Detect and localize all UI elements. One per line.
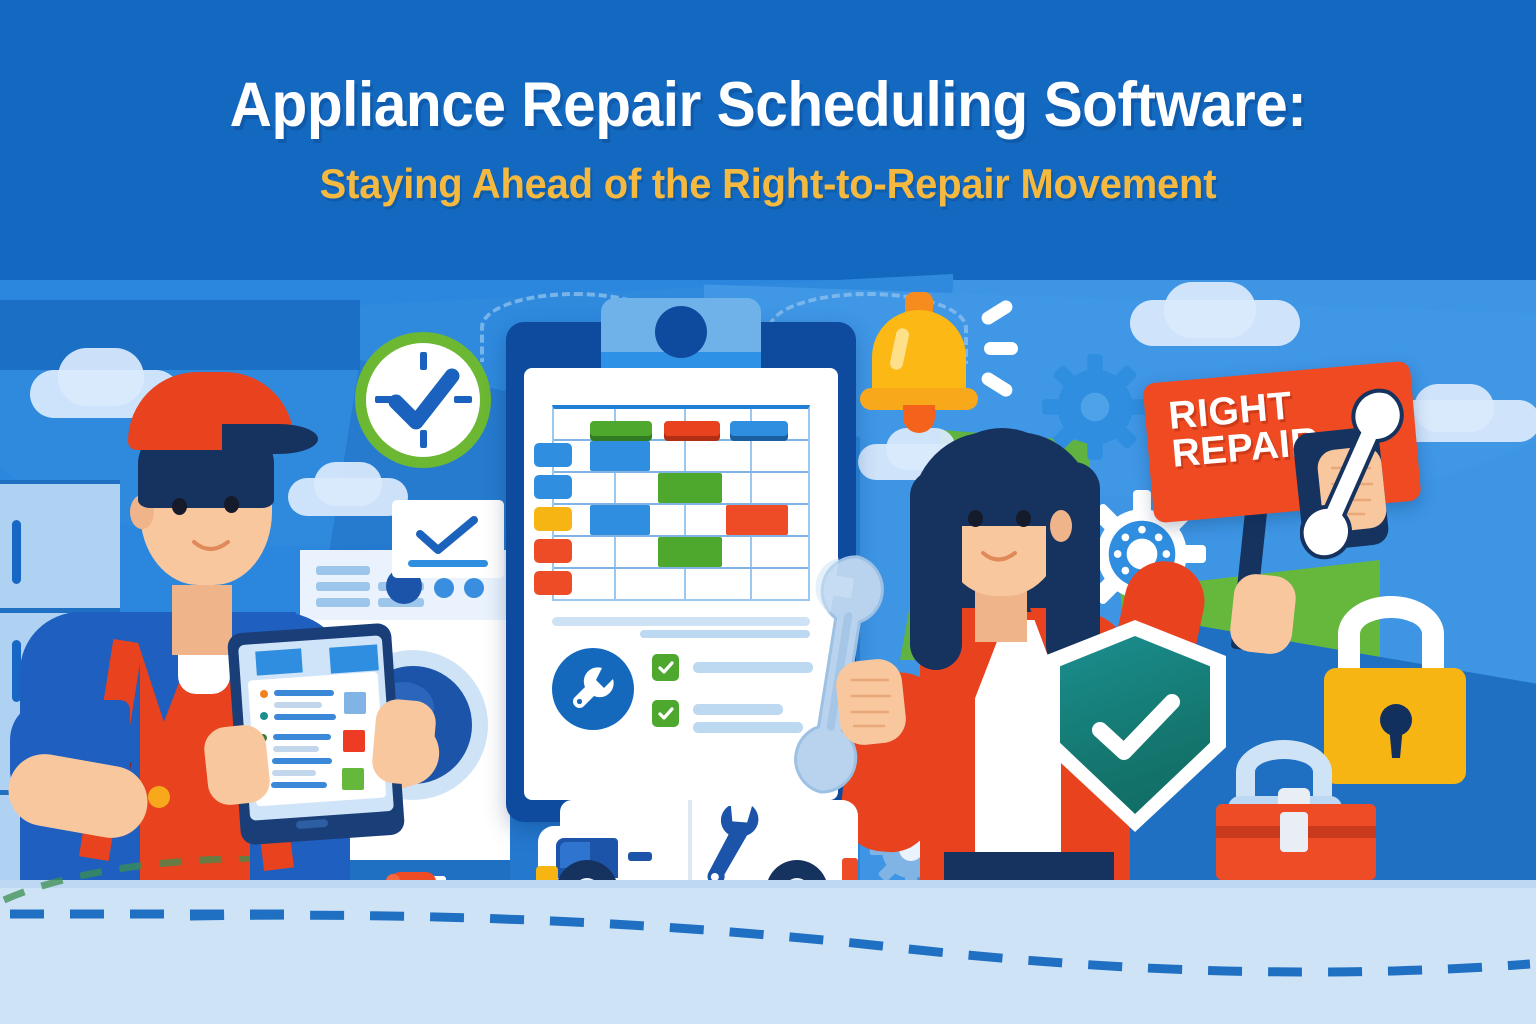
cloud-icon-3b xyxy=(1164,282,1256,338)
tablet-list-line xyxy=(271,782,327,788)
washer-knob-small xyxy=(464,578,484,598)
background-band xyxy=(0,300,360,370)
grid-line-h5 xyxy=(554,567,808,569)
check-icon-clock xyxy=(382,364,466,438)
tablet-list-line xyxy=(273,734,331,740)
clipboard-underline xyxy=(552,617,810,626)
cloud-icon-1b xyxy=(58,348,144,406)
schedule-event-block xyxy=(590,505,650,535)
schedule-column-header xyxy=(590,421,652,436)
schedule-row-label xyxy=(534,539,572,563)
van-door-handle xyxy=(628,852,652,861)
dashed-route-path-left xyxy=(0,856,320,916)
technician-hand-right xyxy=(370,698,437,787)
tablet-status-tile-blue xyxy=(344,692,366,714)
technician-eye-right xyxy=(224,496,239,513)
keyhole-icon xyxy=(1375,700,1417,762)
woman-eyebrow-right xyxy=(1010,492,1036,499)
washer-knob-medium xyxy=(434,578,454,598)
tablet-list-line xyxy=(272,770,316,776)
toolbox-latch xyxy=(1280,812,1308,852)
technician-eyebrow-right xyxy=(218,478,246,485)
check-icon-card xyxy=(412,512,484,556)
tablet-status-tile-green xyxy=(342,768,364,790)
woman-eye-left xyxy=(968,510,983,527)
tablet-list-line xyxy=(272,758,332,764)
schedule-column-header xyxy=(730,421,788,436)
hero-banner: Appliance Repair Scheduling Software: St… xyxy=(0,0,1536,1024)
schedule-row-label xyxy=(534,571,572,595)
wrench-icon-sign xyxy=(1300,386,1430,566)
schedule-row-label xyxy=(534,475,572,499)
checklist-text-bar xyxy=(693,704,783,715)
bell-ray-2 xyxy=(984,342,1018,355)
page-subtitle: Staying Ahead of the Right-to-Repair Mov… xyxy=(38,160,1497,208)
cloud-icon-2b xyxy=(314,462,382,506)
refrigerator-handle-top xyxy=(12,520,21,584)
washer-panel-bar-1 xyxy=(316,566,370,575)
page-title: Appliance Repair Scheduling Software: xyxy=(54,72,1482,138)
woman-eyebrow-left xyxy=(962,492,988,499)
tablet-list-line xyxy=(274,714,336,720)
tablet-list-line xyxy=(274,702,322,708)
tablet-status-tile-red xyxy=(343,730,365,752)
clipboard-top-bar xyxy=(640,630,810,638)
schedule-row-label xyxy=(534,507,572,531)
tablet-list-line xyxy=(274,690,334,696)
woman-smile xyxy=(978,548,1022,570)
washer-panel-bar-2 xyxy=(316,582,370,591)
tablet-header-tile-left xyxy=(255,648,303,675)
schedule-event-block xyxy=(658,473,722,503)
technician-eye-left xyxy=(172,498,187,515)
check-icon-shield xyxy=(1086,688,1186,772)
schedule-event-block xyxy=(590,441,650,471)
schedule-row-label xyxy=(534,443,572,467)
checkmark-card-underline xyxy=(408,560,488,567)
refrigerator-top-edge xyxy=(0,480,120,484)
checklist-text-bar xyxy=(693,722,803,733)
woman-eye-right xyxy=(1016,510,1031,527)
tablet-header-tile-right xyxy=(329,644,379,673)
check-icon-2 xyxy=(657,705,675,723)
tablet-list-dot xyxy=(260,690,268,698)
check-icon-1 xyxy=(657,659,675,677)
tablet-list-dot xyxy=(260,712,268,720)
technician-smile xyxy=(188,536,236,560)
woman-ear xyxy=(1050,510,1072,542)
technician-eyebrow-left xyxy=(166,480,194,487)
tablet-list-line xyxy=(273,746,319,752)
technician-neck xyxy=(172,585,232,655)
schedule-grid xyxy=(552,405,810,601)
schedule-event-block xyxy=(726,505,788,535)
wrench-icon xyxy=(566,662,620,716)
technician-cap-brim xyxy=(222,424,318,454)
title-block: Appliance Repair Scheduling Software: St… xyxy=(0,72,1536,208)
padlock-icon-yellow-shackle xyxy=(1338,596,1444,672)
schedule-event-block xyxy=(658,537,722,567)
clipboard-clip-hole xyxy=(655,306,707,358)
schedule-column-header xyxy=(664,421,720,436)
technician-button xyxy=(148,786,170,808)
woman-hand-fingers xyxy=(840,664,904,742)
woman-hand-right xyxy=(1228,572,1298,656)
technician-hand-left xyxy=(202,723,272,807)
washer-panel-bar-3 xyxy=(316,598,370,607)
notification-bell-icon xyxy=(872,310,966,396)
